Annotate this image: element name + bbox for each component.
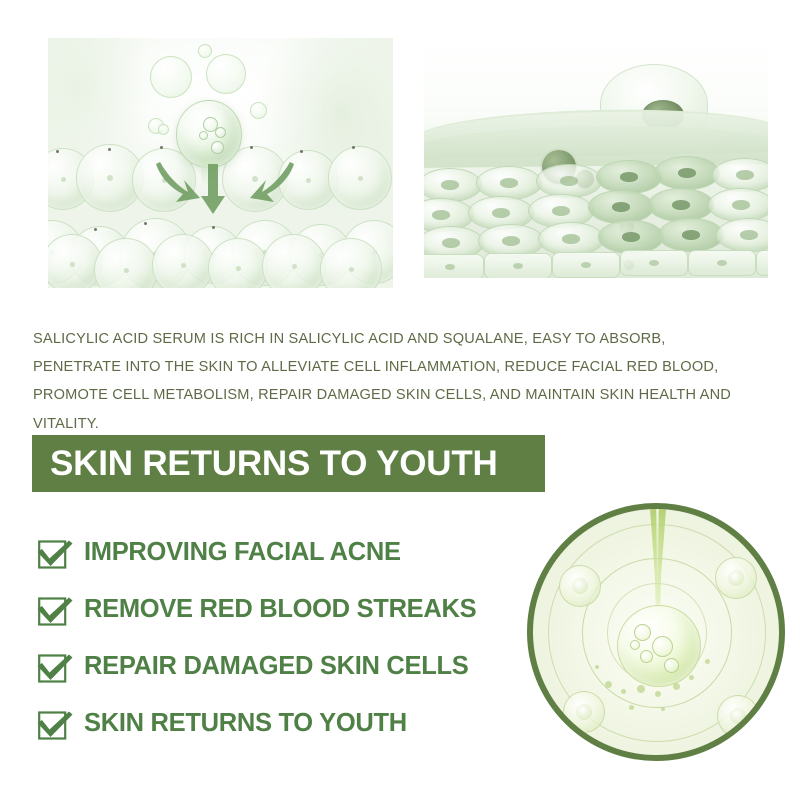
product-description-paragraph: SALICYLIC ACID SERUM IS RICH IN SALICYLI… (33, 325, 749, 439)
floating-bubble (198, 44, 212, 58)
checkbox-checked-icon (36, 648, 74, 686)
floating-bubble (158, 124, 169, 135)
image-skin-cross-section (424, 38, 768, 278)
image-serum-pour (527, 503, 785, 761)
list-item-label: REMOVE RED BLOOD STREAKS (84, 597, 476, 623)
floating-bubble (250, 102, 267, 119)
absorption-arrow-left (154, 158, 206, 206)
section-banner: SKIN RETURNS TO YOUTH (32, 435, 545, 492)
dish-foot (559, 565, 601, 607)
serum-pool (617, 605, 701, 687)
dish-foot (563, 691, 605, 733)
checkbox-checked-icon (36, 534, 74, 572)
dish-foot (715, 557, 757, 599)
list-item-label: SKIN RETURNS TO YOUTH (84, 711, 407, 737)
absorption-arrow-right (244, 158, 296, 206)
list-item: REMOVE RED BLOOD STREAKS (36, 581, 536, 638)
product-image-row (0, 0, 800, 300)
benefits-list: IMPROVING FACIAL ACNE REMOVE RED BLOOD S… (36, 524, 536, 752)
floating-bubble (206, 54, 246, 94)
checkbox-checked-icon (36, 705, 74, 743)
banner-title: SKIN RETURNS TO YOUTH (32, 446, 498, 481)
dish-foot (717, 695, 759, 737)
cell-row-bottom (48, 234, 393, 288)
list-item-label: REPAIR DAMAGED SKIN CELLS (84, 654, 468, 680)
absorption-arrow-center (200, 164, 226, 216)
list-item: SKIN RETURNS TO YOUTH (36, 695, 536, 752)
list-item-label: IMPROVING FACIAL ACNE (84, 540, 401, 566)
floating-bubble (150, 56, 192, 98)
list-item: IMPROVING FACIAL ACNE (36, 524, 536, 581)
checkbox-checked-icon (36, 591, 74, 629)
image-droplet-absorption (48, 38, 393, 288)
list-item: REPAIR DAMAGED SKIN CELLS (36, 638, 536, 695)
